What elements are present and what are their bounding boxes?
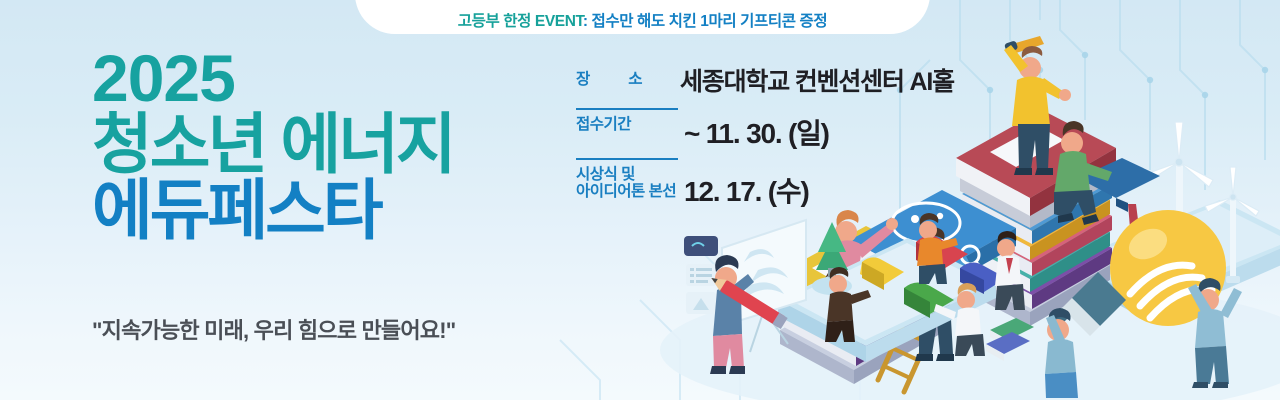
event-info-panel: 장 소 세종대학교 컨벤션센터 AI홀 접수기간 ~ 11. 30. (일) 시…: [576, 58, 954, 210]
title-line-main: 청소년 에너지: [92, 112, 454, 176]
info-label-venue-char1: 장: [576, 71, 590, 88]
info-row-final-event: 시상식 및 아이디어톤 본선 12. 17. (수): [576, 158, 954, 210]
info-label-final-event-line1: 시상식 및: [576, 166, 678, 183]
event-highlight-pill: 고등부 한정 EVENT: 접수만 해도 치킨 1마리 기프티콘 증정: [355, 0, 930, 34]
info-value-application-period: ~ 11. 30. (일): [678, 108, 829, 152]
event-banner: 고등부 한정 EVENT: 접수만 해도 치킨 1마리 기프티콘 증정 2025…: [0, 0, 1280, 400]
info-row-venue: 장 소 세종대학교 컨벤션센터 AI홀: [576, 58, 954, 102]
info-value-venue: 세종대학교 컨벤션센터 AI홀: [680, 62, 954, 98]
info-label-final-event-line2: 아이디어톤 본선: [576, 183, 678, 200]
event-text-blue: : 접수만 해도 치킨 1마리 기프티콘 증정: [583, 13, 827, 30]
title-block: 2025 청소년 에너지 에듀페스타: [92, 46, 454, 242]
info-row-application-period: 접수기간 ~ 11. 30. (일): [576, 108, 954, 152]
tagline: "지속가능한 미래, 우리 힘으로 만들어요!": [92, 313, 455, 345]
event-text-teal: 고등부 한정 EVENT: [458, 13, 583, 30]
info-label-application-period: 접수기간: [576, 108, 678, 133]
info-label-final-event: 시상식 및 아이디어톤 본선: [576, 158, 678, 201]
event-highlight-text: 고등부 한정 EVENT: 접수만 해도 치킨 1마리 기프티콘 증정: [458, 14, 827, 30]
title-year: 2025: [92, 46, 454, 110]
info-label-venue-char2: 소: [628, 71, 642, 88]
info-label-venue: 장 소: [576, 71, 680, 88]
title-line-sub: 에듀페스타: [92, 178, 454, 242]
info-value-final-event: 12. 17. (수): [678, 158, 809, 210]
